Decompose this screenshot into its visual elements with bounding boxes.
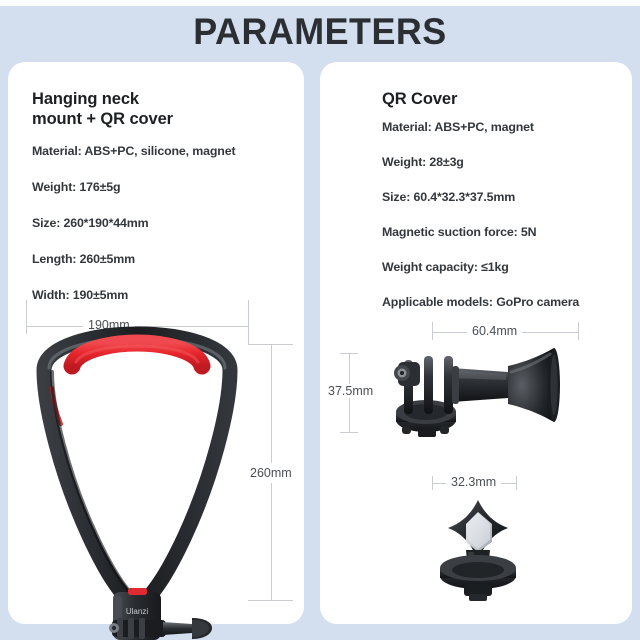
spec-item: Weight: 28±3g: [382, 155, 579, 169]
spec-list-qr-cover: Material: ABS+PC, magnet Weight: 28±3g S…: [382, 120, 579, 330]
dim-label-32-3mm: 32.3mm: [446, 475, 501, 489]
qr-magnet-cone: [508, 348, 554, 422]
card-qr-cover: QR Cover Material: ABS+PC, magnet Weight…: [320, 62, 632, 624]
dim-tick-left: [432, 322, 433, 340]
qr-cover-front-illustration: [416, 494, 546, 614]
spec-item: Applicable models: GoPro camera: [382, 295, 579, 309]
parameters-page: PARAMETERS Hanging neck mount + QR cover…: [0, 0, 640, 640]
qr-base-nub-right: [440, 426, 449, 434]
spec-list-hanging-neck-mount: Material: ABS+PC, silicone, magnet Weigh…: [32, 144, 235, 324]
card-hanging-neck-mount: Hanging neck mount + QR cover Material: …: [8, 62, 304, 624]
spec-item: Weight capacity: ≤1kg: [382, 260, 579, 274]
dim-label-60-4mm: 60.4mm: [467, 324, 522, 338]
figure-hanging-neck-mount: 190mm 260mm: [8, 300, 304, 624]
card-title-line-2: mount + QR cover: [32, 109, 173, 129]
qr-base-nub-left: [402, 426, 411, 434]
spec-item: Length: 260±5mm: [32, 252, 235, 266]
spec-item: Weight: 176±5g: [32, 180, 235, 194]
card-title-qr-cover: QR Cover: [382, 89, 457, 109]
gopro-mount-assembly: [109, 618, 212, 639]
spec-item: Magnetic suction force: 5N: [382, 225, 579, 239]
page-title: PARAMETERS: [10, 10, 631, 54]
qr-base-screw: [418, 430, 436, 437]
dim-tick-right: [578, 322, 579, 340]
spec-item: Size: 60.4*32.3*37.5mm: [382, 190, 579, 204]
card-title-hanging-neck-mount: Hanging neck mount + QR cover: [32, 89, 173, 129]
brand-label: Ulanzi: [126, 607, 148, 616]
figure-qr-cover-front-view: 32.3mm: [320, 472, 632, 622]
card-title-line-1: Hanging neck: [32, 89, 173, 109]
spec-item: Size: 260*190*44mm: [32, 216, 235, 230]
spec-item: Material: ABS+PC, magnet: [382, 120, 579, 134]
neck-mount-illustration: Ulanzi: [16, 328, 266, 628]
dim-label-37-5mm: 37.5mm: [323, 384, 378, 398]
pod-red-button: [128, 588, 147, 595]
spec-item: Material: ABS+PC, silicone, magnet: [32, 144, 235, 158]
qr-cover-side-illustration: [378, 342, 578, 457]
figure-qr-cover-side-view: 60.4mm 37.5mm: [320, 320, 632, 468]
